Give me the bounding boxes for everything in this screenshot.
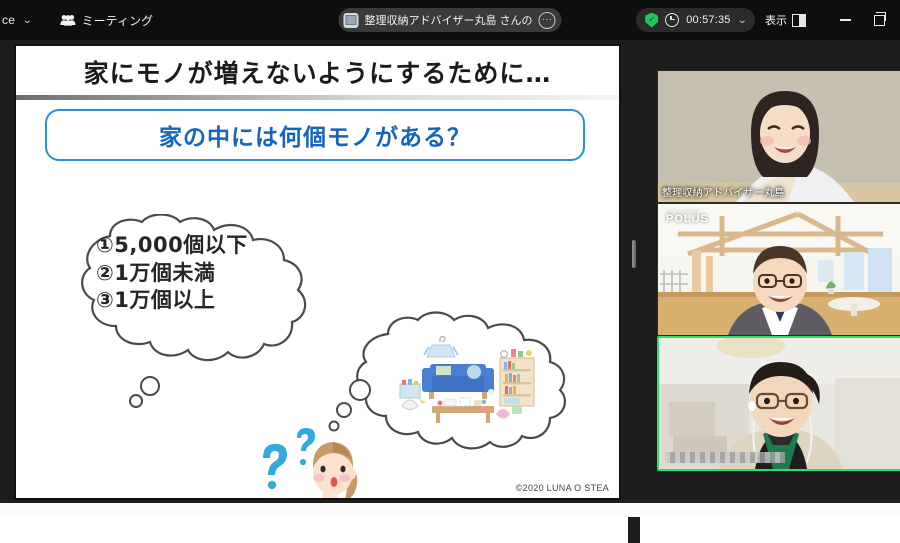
minimize-button[interactable] [828,0,862,40]
meeting-timer: 00:57:35 [686,14,730,26]
presentation-pill[interactable]: 整理収納アドバイザー丸島 さんの ··· [338,8,561,32]
answer-item-1: ①5,000個以下 [96,232,346,260]
title-bar-left: ce ⌄ ミーティング [0,0,153,40]
video-feed-3 [659,338,900,469]
meeting-menu[interactable]: ミーティング [60,12,153,29]
timer-chevron-down-icon[interactable]: ⌄ [737,15,747,26]
answer-item-2: ②1万個未満 [96,260,346,288]
panel-divider [628,80,640,543]
restore-button[interactable] [862,0,896,40]
polus-watermark: POLUS GROUPPOLUS [666,210,709,225]
slide-title: 家にモノが増えないようにするために… [16,54,619,90]
video-tile-3-active-speaker[interactable] [657,336,900,471]
video-feed-1 [658,71,900,202]
status-pill[interactable]: ✓ 00:57:35 ⌄ [636,8,755,32]
more-options-icon[interactable]: ··· [539,12,556,29]
title-bar-right: ✓ 00:57:35 ⌄ 表示 [636,0,896,40]
window-bottom-strip [0,503,900,517]
shared-content-title: 整理収納アドバイザー丸島 さんの [364,12,532,28]
shield-icon: ✓ [645,13,658,28]
people-icon [60,14,76,26]
copyright-text: ©2020 LUNA O STEA [516,483,609,493]
shared-screen-region[interactable]: 家にモノが増えないようにするために… 家の中には何個モノがある？ ①5,000個… [14,44,621,500]
cloud-tail-bubbles-left [124,376,184,416]
participant-video-panel: 整理収納アドバイザー丸島 [657,70,900,470]
presentation-slide: 家にモノが増えないようにするために… 家の中には何個モノがある？ ①5,000個… [16,46,619,498]
view-layout-label: 表示 [765,12,787,28]
layout-grid-icon [792,14,806,27]
messy-room-thought-cloud [346,308,596,458]
chevron-down-icon[interactable]: ⌄ [22,15,32,26]
blurred-name-label-3 [665,452,785,463]
answer-list: ①5,000個以下 ②1万個未満 ③1万個以上 [96,232,346,315]
panel-resize-handle[interactable] [632,240,636,268]
clock-icon [665,13,679,27]
question-callout-box: 家の中には何個モノがある？ [45,109,585,161]
meeting-menu-label: ミーティング [82,12,153,29]
title-underline [16,95,619,100]
meeting-window: ce ⌄ ミーティング 整理収納アドバイザー丸島 さんの [0,0,900,517]
thinking-girl-illustration [261,424,366,498]
view-layout-button[interactable]: 表示 [765,12,806,28]
answer-item-3: ③1万個以上 [96,287,346,315]
video-tile-1[interactable]: 整理収納アドバイザー丸島 [657,70,900,203]
answers-thought-cloud: ①5,000個以下 ②1万個未満 ③1万個以上 [58,214,348,374]
app-name-label: ce [0,13,15,27]
title-bar: ce ⌄ ミーティング 整理収納アドバイザー丸島 さんの [0,0,900,40]
share-thumbnail-icon [343,13,358,28]
participant-name-label-1: 整理収納アドバイザー丸島 [662,184,784,199]
messy-room-illustration [396,336,546,431]
question-text: 家の中には何個モノがある？ [159,118,471,152]
video-tile-2[interactable]: POLUS GROUPPOLUS [657,203,900,336]
